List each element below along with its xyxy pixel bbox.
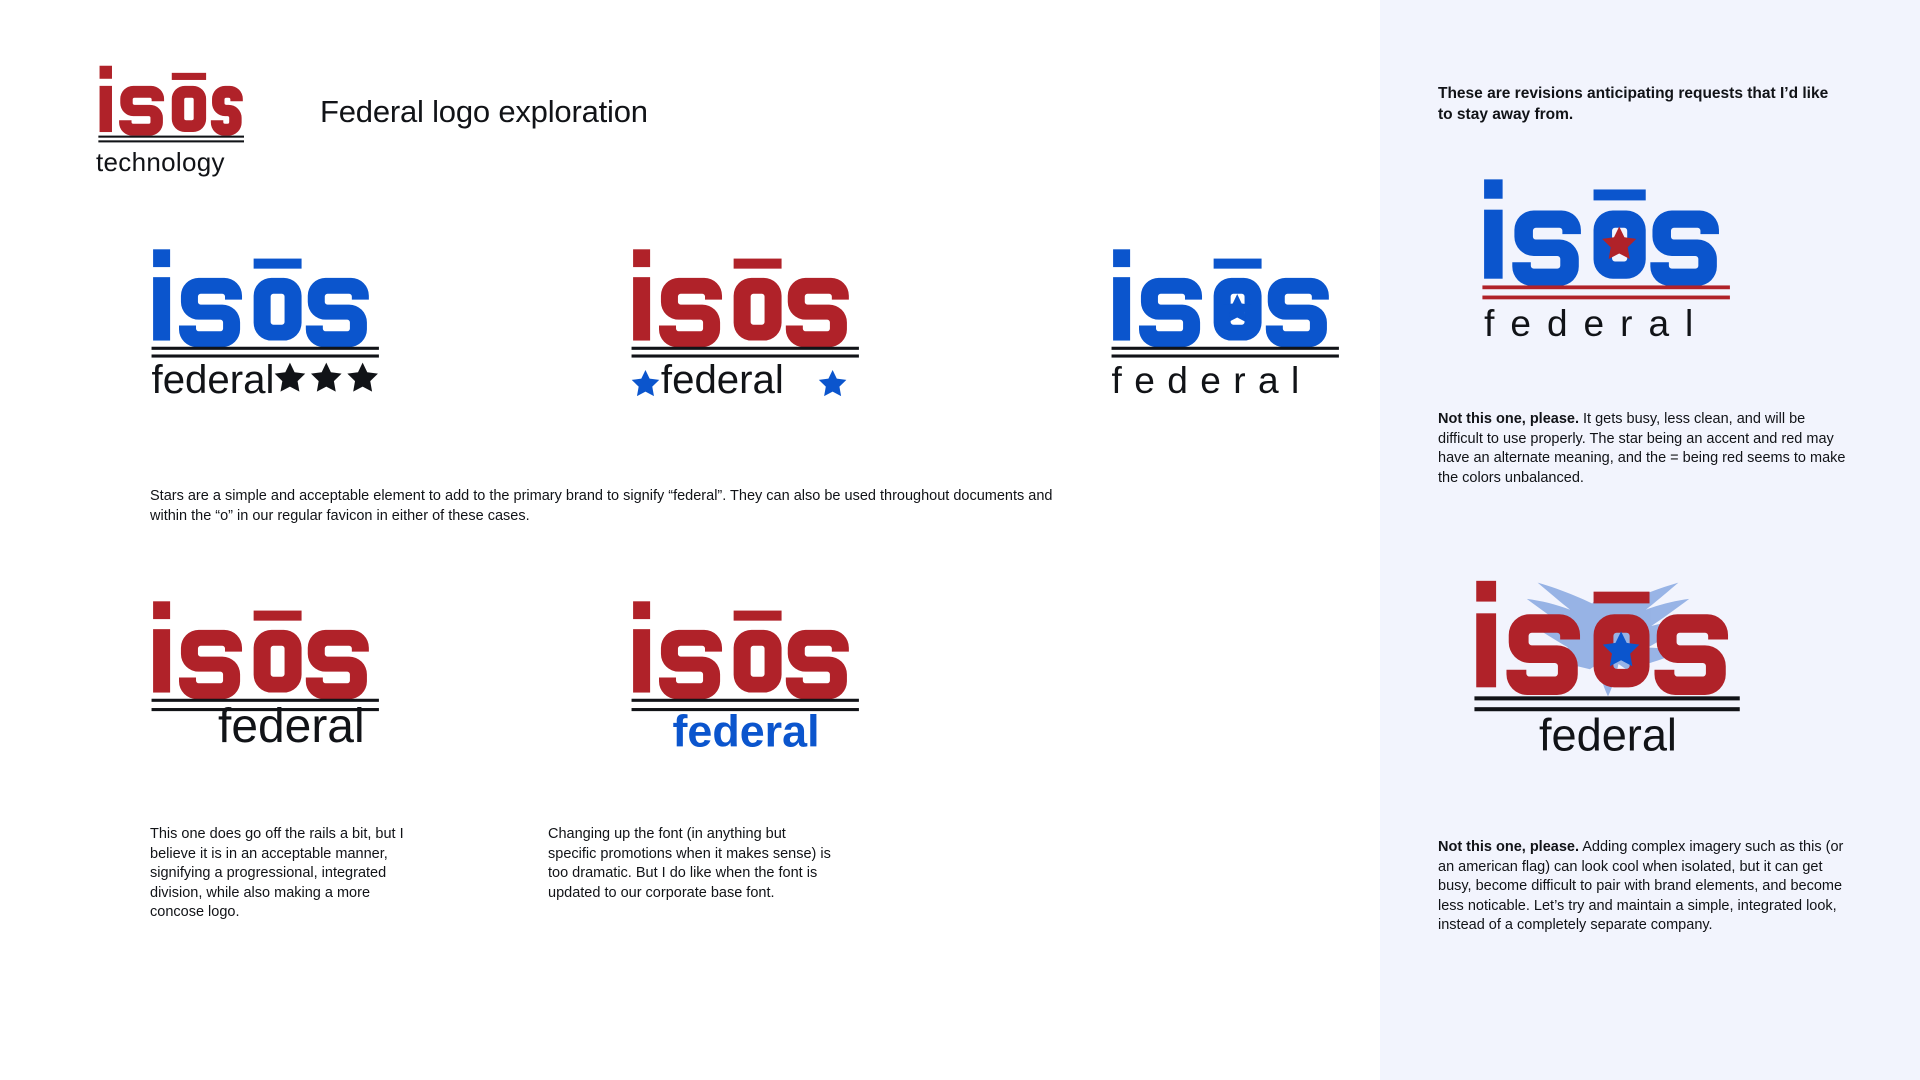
concept-row-one: federal: [150, 246, 1342, 398]
rejected-red-star-note: Not this one, please. It gets busy, less…: [1438, 410, 1848, 488]
concept-red-flanking-stars[interactable]: federal: [630, 246, 862, 398]
concept-blue-star-in-o[interactable]: federal: [1110, 246, 1342, 398]
note-lead: Not this one, please.: [1438, 839, 1579, 855]
rejected-eagle-wings[interactable]: federal: [1458, 570, 1758, 755]
concept-row-two: federal federal: [150, 598, 862, 750]
concept-blue-trailing-stars[interactable]: federal: [150, 246, 382, 398]
concept-sublabel: federal: [152, 357, 275, 398]
svg-text:federal: federal: [1539, 709, 1677, 755]
concept-red-blue-caption: Changing up the font (in anything but sp…: [548, 825, 838, 903]
isos-technology-brandmark: technology: [96, 62, 244, 178]
concept-red-baseline-caption: This one does go off the rails a bit, bu…: [150, 825, 410, 923]
page-title: Federal logo exploration: [320, 94, 648, 130]
left-panel: technology Federal logo exploration: [0, 0, 1380, 1080]
right-panel-header: These are revisions anticipating request…: [1438, 84, 1838, 126]
document-header: technology Federal logo exploration: [96, 62, 648, 178]
concept-red-blue-federal[interactable]: federal: [630, 598, 862, 750]
rejected-red-star-in-o[interactable]: federal: [1462, 176, 1752, 341]
right-panel: These are revisions anticipating request…: [1380, 0, 1920, 1080]
brandmark-tagline: technology: [96, 147, 244, 178]
concept-red-baseline-federal[interactable]: federal: [150, 598, 382, 750]
svg-text:federal: federal: [218, 700, 365, 750]
svg-text:federal: federal: [672, 706, 819, 750]
svg-text:federal: federal: [1484, 302, 1709, 341]
stars-caption: Stars are a simple and acceptable elemen…: [150, 487, 1080, 526]
svg-text:federal: federal: [661, 357, 784, 398]
svg-text:federal: federal: [1112, 359, 1312, 398]
logo-exploration-page: technology Federal logo exploration: [0, 0, 1920, 1080]
note-lead: Not this one, please.: [1438, 411, 1579, 427]
rejected-eagle-note: Not this one, please. Adding complex ima…: [1438, 838, 1848, 936]
